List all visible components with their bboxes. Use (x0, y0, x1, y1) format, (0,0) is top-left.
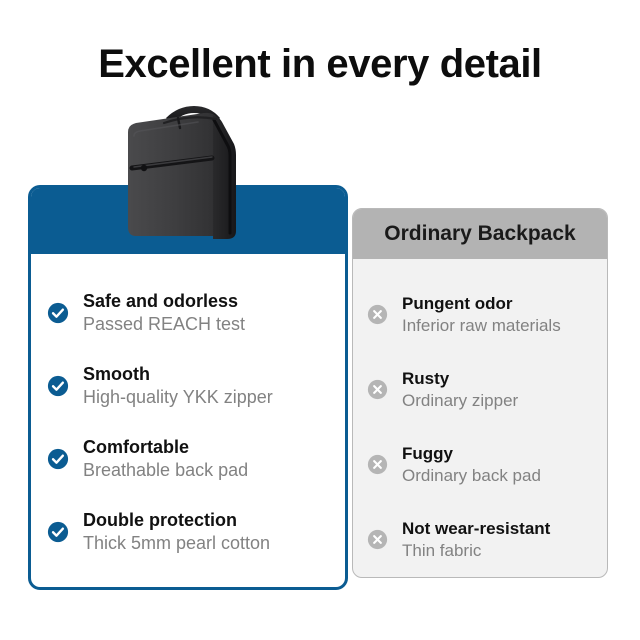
x-circle-icon (367, 454, 388, 475)
list-item-text: Not wear-resistant Thin fabric (402, 519, 550, 560)
list-item: Smooth High-quality YKK zipper (47, 349, 329, 422)
list-item-text: Safe and odorless Passed REACH test (83, 291, 245, 334)
list-item-text: Smooth High-quality YKK zipper (83, 364, 273, 407)
list-item: Pungent odor Inferior raw materials (367, 277, 593, 352)
x-circle-icon (367, 529, 388, 550)
list-item-title: Not wear-resistant (402, 519, 550, 538)
check-circle-icon (47, 375, 69, 397)
list-item-title: Comfortable (83, 437, 248, 458)
check-circle-icon (47, 448, 69, 470)
comparison-infographic: Excellent in every detail Ordinary Backp… (0, 0, 640, 640)
list-item-title: Smooth (83, 364, 273, 385)
ordinary-feature-list: Pungent odor Inferior raw materials Rust… (367, 277, 593, 577)
list-item-title: Fuggy (402, 444, 541, 463)
list-item: Fuggy Ordinary back pad (367, 427, 593, 502)
ordinary-backpack-card: Ordinary Backpack Pungent odor Inferior … (352, 208, 608, 578)
ordinary-card-header: Ordinary Backpack (353, 209, 607, 259)
x-circle-icon (367, 379, 388, 400)
list-item-title: Safe and odorless (83, 291, 245, 312)
list-item-subtitle: Breathable back pad (83, 460, 248, 481)
list-item-text: Pungent odor Inferior raw materials (402, 294, 561, 335)
list-item-subtitle: Inferior raw materials (402, 316, 561, 335)
check-circle-icon (47, 521, 69, 543)
list-item: Double protection Thick 5mm pearl cotton (47, 495, 329, 568)
list-item-title: Pungent odor (402, 294, 561, 313)
premium-feature-list: Safe and odorless Passed REACH test Smoo… (47, 276, 329, 568)
check-circle-icon (47, 302, 69, 324)
backpack-photo (110, 96, 270, 256)
list-item-title: Rusty (402, 369, 518, 388)
list-item-subtitle: Thin fabric (402, 541, 550, 560)
list-item-subtitle: Ordinary zipper (402, 391, 518, 410)
list-item-text: Fuggy Ordinary back pad (402, 444, 541, 485)
list-item-text: Rusty Ordinary zipper (402, 369, 518, 410)
page-title: Excellent in every detail (0, 42, 640, 87)
list-item: Not wear-resistant Thin fabric (367, 502, 593, 577)
list-item: Comfortable Breathable back pad (47, 422, 329, 495)
list-item: Rusty Ordinary zipper (367, 352, 593, 427)
list-item-subtitle: High-quality YKK zipper (83, 387, 273, 408)
list-item: Safe and odorless Passed REACH test (47, 276, 329, 349)
list-item-title: Double protection (83, 510, 270, 531)
list-item-subtitle: Ordinary back pad (402, 466, 541, 485)
ordinary-card-body: Pungent odor Inferior raw materials Rust… (353, 259, 607, 578)
list-item-subtitle: Thick 5mm pearl cotton (83, 533, 270, 554)
list-item-text: Comfortable Breathable back pad (83, 437, 248, 480)
premium-card-body: Safe and odorless Passed REACH test Smoo… (31, 254, 345, 578)
list-item-text: Double protection Thick 5mm pearl cotton (83, 510, 270, 553)
x-circle-icon (367, 304, 388, 325)
ordinary-card-title: Ordinary Backpack (384, 222, 575, 246)
list-item-subtitle: Passed REACH test (83, 314, 245, 335)
